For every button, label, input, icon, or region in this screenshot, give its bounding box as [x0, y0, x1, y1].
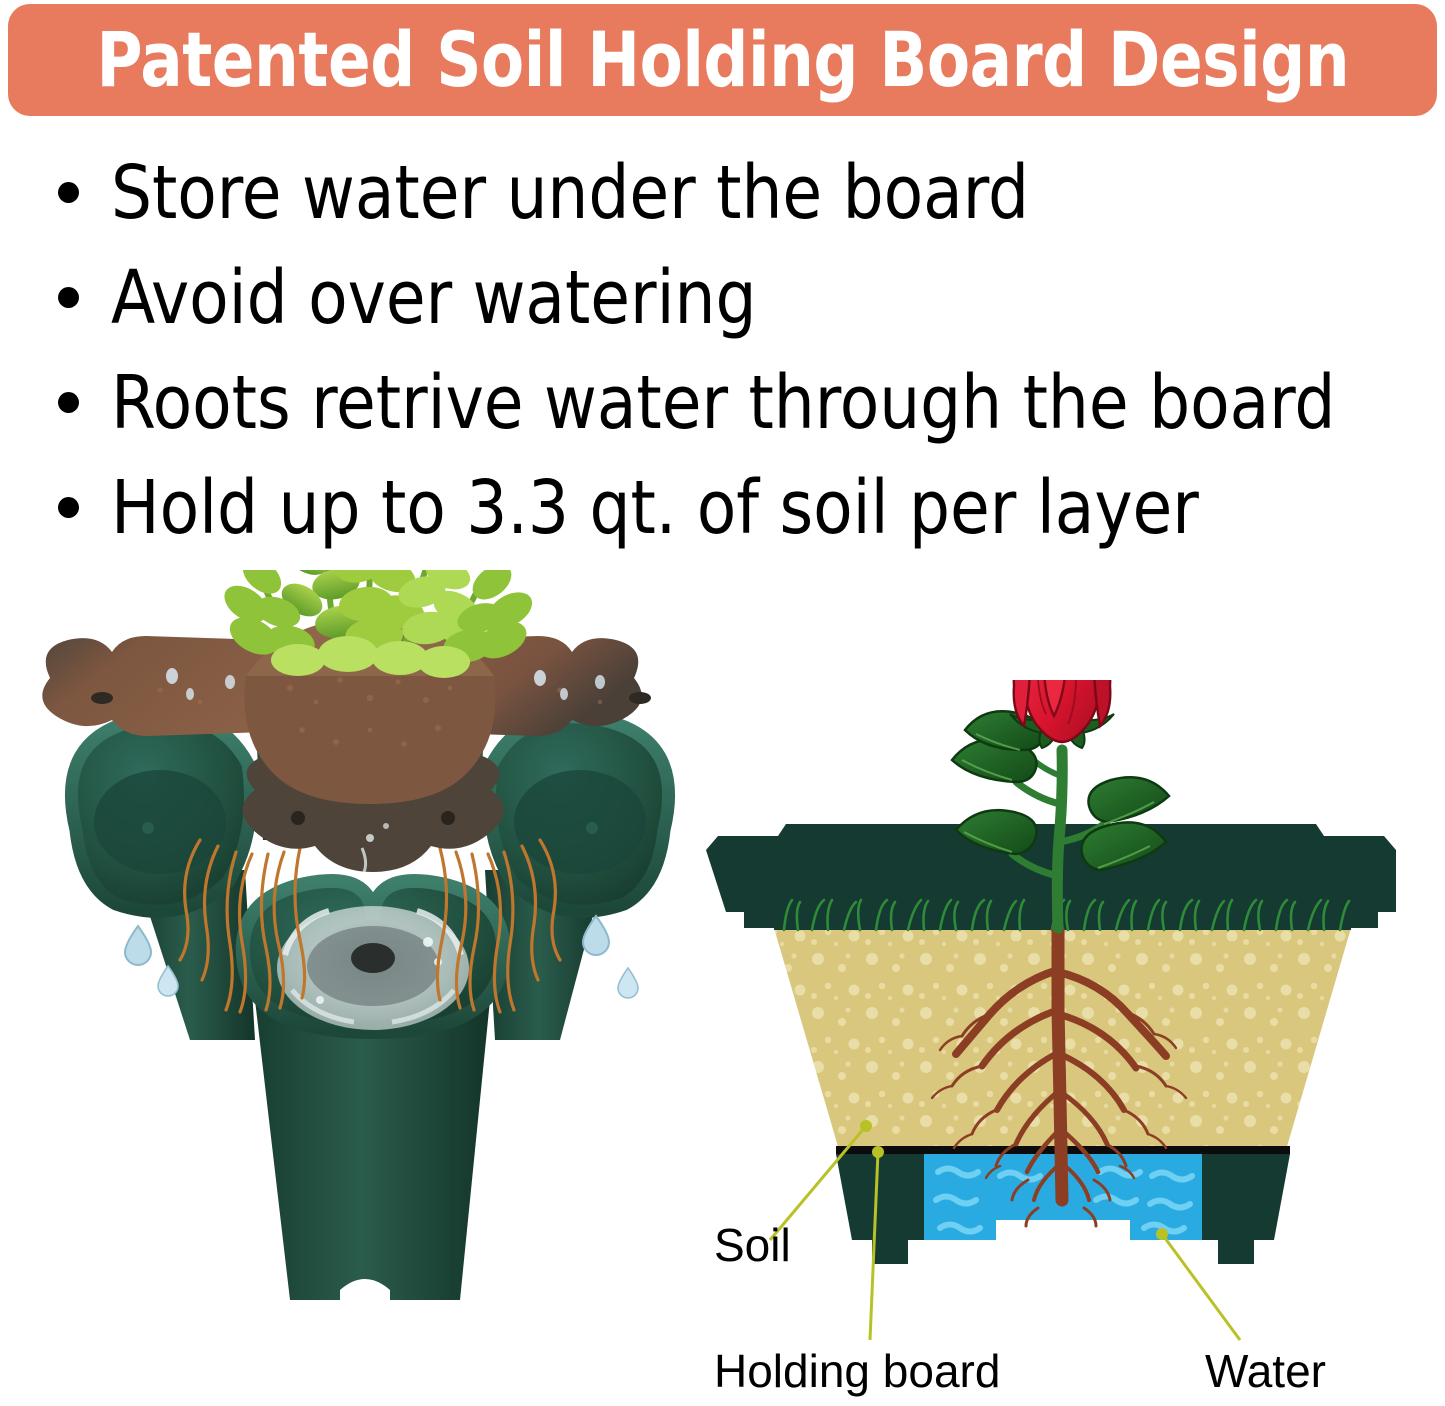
planter-lobe-right	[490, 717, 669, 912]
pot-cross-section-diagram	[700, 680, 1445, 1380]
illustration-area	[0, 570, 1445, 1406]
feature-label: Roots retrive water through the board	[111, 366, 1335, 440]
planter-cone-front	[255, 1000, 490, 1300]
bullet-dot-icon	[58, 497, 79, 518]
label-soil: Soil	[714, 1222, 791, 1268]
header-banner: Patented Soil Holding Board Design	[8, 4, 1437, 116]
list-item: Hold up to 3.3 qt. of soil per layer	[0, 455, 1445, 560]
feature-list: Store water under the board Avoid over w…	[0, 140, 1445, 560]
bullet-dot-icon	[58, 182, 79, 203]
page-title: Patented Soil Holding Board Design	[96, 22, 1349, 98]
feature-label: Hold up to 3.3 qt. of soil per layer	[111, 471, 1199, 545]
list-item: Roots retrive water through the board	[0, 350, 1445, 455]
label-water: Water	[1205, 1348, 1326, 1394]
planter-lobe-left	[71, 717, 250, 912]
label-holding-board: Holding board	[714, 1348, 1000, 1394]
feature-label: Avoid over watering	[111, 261, 756, 335]
bullet-dot-icon	[58, 392, 79, 413]
list-item: Avoid over watering	[0, 245, 1445, 350]
stacked-planter-photo	[40, 570, 700, 1360]
bullet-dot-icon	[58, 287, 79, 308]
list-item: Store water under the board	[0, 140, 1445, 245]
feature-label: Store water under the board	[111, 156, 1029, 230]
